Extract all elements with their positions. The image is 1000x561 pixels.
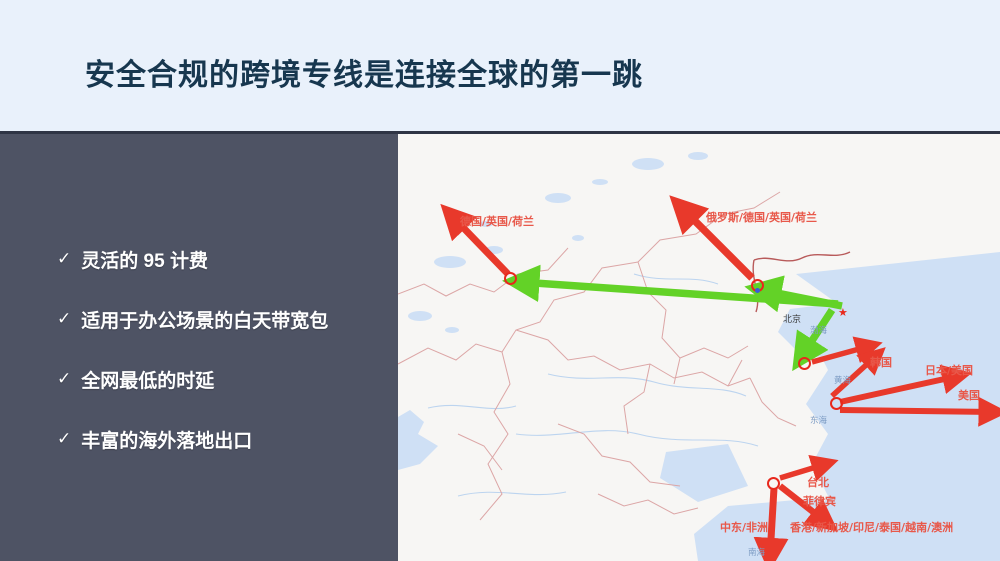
slide-canvas: 安全合规的跨境专线是连接全球的第一跳 ✓ 灵活的 95 计费 ✓ 适用于办公场景… <box>0 0 1000 561</box>
node-tianjin[interactable] <box>798 357 811 370</box>
list-item-label: 全网最低的时延 <box>81 366 214 393</box>
page-title: 安全合规的跨境专线是连接全球的第一跳 <box>85 50 643 94</box>
check-icon: ✓ <box>57 430 71 447</box>
node-guangzhou[interactable] <box>767 477 780 490</box>
feature-panel: ✓ 灵活的 95 计费 ✓ 适用于办公场景的白天带宽包 ✓ 全网最低的时延 ✓ … <box>0 134 398 561</box>
list-item: ✓ 适用于办公场景的白天带宽包 <box>57 306 328 333</box>
route-shanghai-usa <box>840 410 994 412</box>
feature-list: ✓ 灵活的 95 计费 ✓ 适用于办公场景的白天带宽包 ✓ 全网最低的时延 ✓ … <box>0 134 398 561</box>
capital-star-icon: ★ <box>838 308 848 319</box>
map-graphic <box>398 134 1000 561</box>
check-icon: ✓ <box>57 310 71 327</box>
route-guangzhou-mideast <box>770 488 774 556</box>
slide-header: 安全合规的跨境专线是连接全球的第一跳 <box>0 0 1000 131</box>
list-item: ✓ 丰富的海外落地出口 <box>57 426 252 453</box>
list-item-label: 灵活的 95 计费 <box>81 246 208 273</box>
list-item: ✓ 灵活的 95 计费 <box>57 246 208 273</box>
check-icon: ✓ <box>57 250 71 267</box>
node-shanghai[interactable] <box>830 397 843 410</box>
list-item: ✓ 全网最低的时延 <box>57 366 214 393</box>
node-urumqi[interactable] <box>504 272 517 285</box>
list-item-label: 适用于办公场景的白天带宽包 <box>81 306 328 333</box>
network-map: ★ 德国/英国/荷兰 俄罗斯/德国/英国/荷兰 韩国 日本/美国 美国 台北 菲… <box>398 134 1000 561</box>
list-item-label: 丰富的海外落地出口 <box>81 426 252 453</box>
node-manzhouli-dot <box>755 288 760 293</box>
check-icon: ✓ <box>57 370 71 387</box>
